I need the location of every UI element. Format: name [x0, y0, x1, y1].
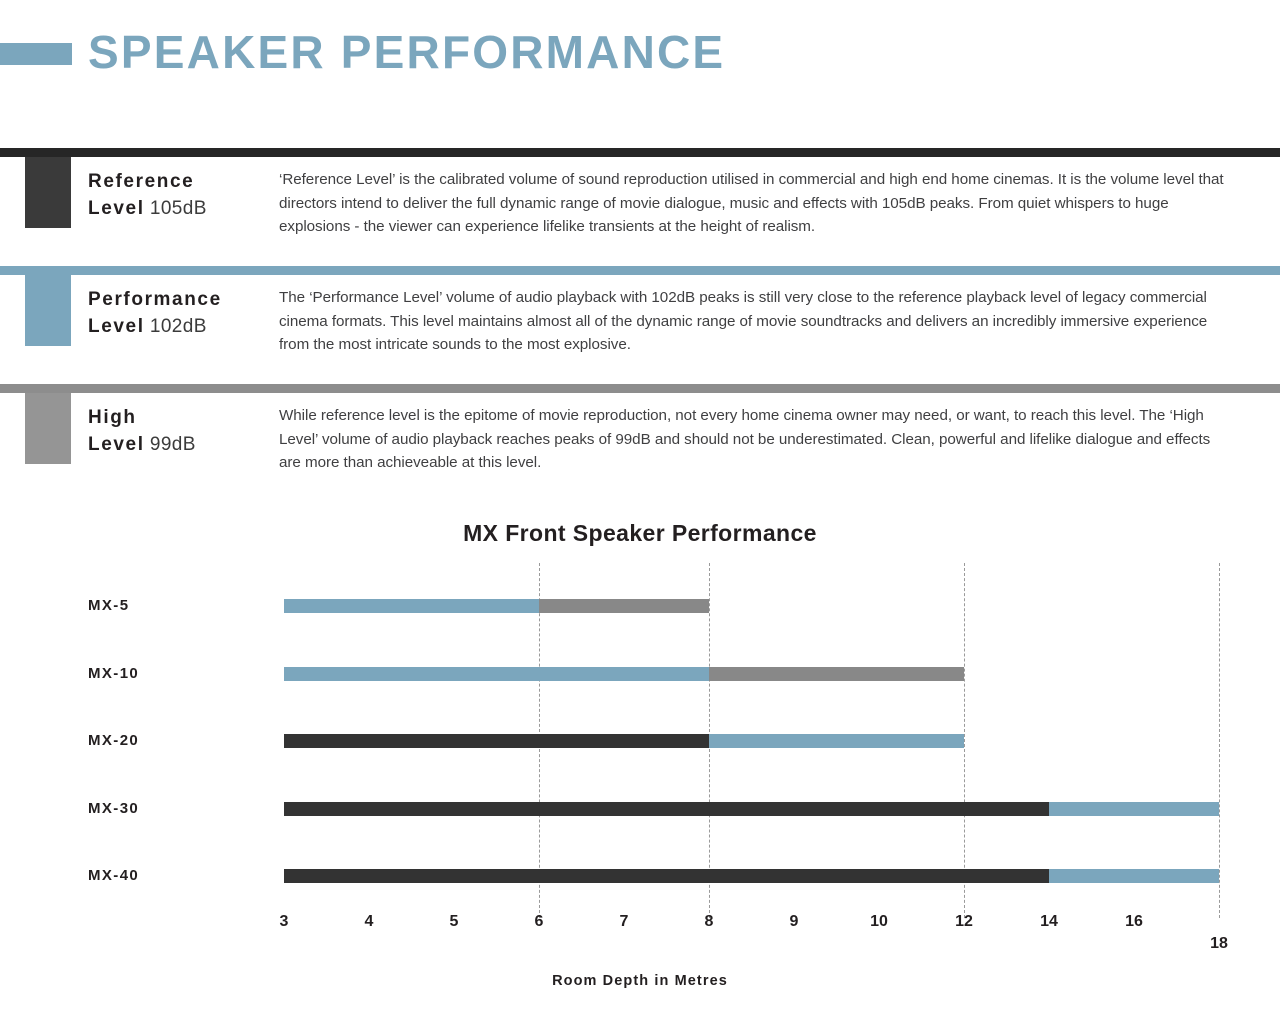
chart-bar-segment-reference	[284, 802, 1049, 816]
band-rule	[0, 148, 1280, 157]
chart-x-tick: 14	[1040, 913, 1058, 931]
band-description: The ‘Performance Level’ volume of audio …	[279, 286, 1219, 357]
band-description: ‘Reference Level’ is the calibrated volu…	[279, 168, 1237, 239]
band-rule	[0, 266, 1280, 275]
band-heading-line1: Reference	[88, 171, 194, 192]
level-band-high: High Level 99dB While reference level is…	[0, 384, 1280, 502]
chart-bar-segment-high	[539, 599, 709, 613]
band-description: While reference level is the epitome of …	[279, 404, 1224, 475]
chart-bar-segment-reference	[284, 734, 709, 748]
band-heading-value: 99dB	[150, 434, 196, 455]
mx-front-speaker-performance-chart: MX Front Speaker Performance MX-5MX-10MX…	[0, 505, 1280, 1015]
band-heading-line1: Performance	[88, 289, 222, 310]
chart-x-tick: 5	[450, 913, 459, 931]
band-rule	[0, 384, 1280, 393]
chart-bar-segment-performance	[709, 734, 964, 748]
band-heading: Performance Level 102dB	[88, 286, 288, 340]
chart-x-tick: 4	[365, 913, 374, 931]
speaker-performance-infographic: SPEAKER PERFORMANCE Reference Level 105d…	[0, 0, 1280, 1015]
chart-bar	[284, 734, 964, 748]
chart-bar-row: MX-20	[0, 726, 1280, 756]
chart-row-label: MX-20	[88, 732, 139, 749]
band-heading-value: 105dB	[150, 198, 207, 219]
chart-x-tick: 9	[790, 913, 799, 931]
chart-bar	[284, 869, 1219, 883]
chart-bar-segment-performance	[1049, 869, 1219, 883]
chart-x-tick: 6	[535, 913, 544, 931]
chart-bar-row: MX-40	[0, 861, 1280, 891]
chart-bar	[284, 667, 964, 681]
chart-x-tick: 18	[1210, 935, 1228, 953]
level-band-performance: Performance Level 102dB The ‘Performance…	[0, 266, 1280, 384]
chart-x-tick: 3	[280, 913, 289, 931]
chart-row-label: MX-5	[88, 597, 129, 614]
chart-x-tick: 16	[1125, 913, 1143, 931]
band-color-swatch	[25, 157, 71, 228]
chart-title: MX Front Speaker Performance	[0, 520, 1280, 547]
chart-x-tick: 12	[955, 913, 973, 931]
page-header: SPEAKER PERFORMANCE	[0, 22, 1280, 82]
chart-row-label: MX-10	[88, 665, 139, 682]
band-heading: Reference Level 105dB	[88, 168, 288, 222]
chart-x-axis-title: Room Depth in Metres	[0, 973, 1280, 989]
level-band-reference: Reference Level 105dB ‘Reference Level’ …	[0, 148, 1280, 266]
header-accent-bar	[0, 43, 72, 65]
page-title: SPEAKER PERFORMANCE	[88, 22, 725, 82]
band-heading-line2: Level	[88, 198, 145, 219]
chart-x-tick: 7	[620, 913, 629, 931]
chart-row-label: MX-40	[88, 867, 139, 884]
chart-row-label: MX-30	[88, 800, 139, 817]
chart-bar	[284, 802, 1219, 816]
chart-bar-segment-performance	[284, 667, 709, 681]
band-color-swatch	[25, 393, 71, 464]
chart-bar-segment-reference	[284, 869, 1049, 883]
chart-bar	[284, 599, 709, 613]
chart-bar-segment-high	[709, 667, 964, 681]
chart-bar-segment-performance	[284, 599, 539, 613]
band-heading-line2: Level	[88, 434, 145, 455]
band-color-swatch	[25, 275, 71, 346]
chart-bar-row: MX-5	[0, 591, 1280, 621]
band-heading-line1: High	[88, 407, 137, 428]
chart-bar-row: MX-10	[0, 659, 1280, 689]
chart-plot-area: MX-5MX-10MX-20MX-30MX-40	[0, 563, 1280, 921]
chart-x-tick: 10	[870, 913, 888, 931]
chart-bar-segment-performance	[1049, 802, 1219, 816]
chart-bar-row: MX-30	[0, 794, 1280, 824]
band-heading: High Level 99dB	[88, 404, 288, 458]
band-heading-value: 102dB	[150, 316, 207, 337]
chart-x-tick: 8	[705, 913, 714, 931]
chart-x-axis: 34567891012141618	[0, 913, 1280, 953]
band-heading-line2: Level	[88, 316, 145, 337]
